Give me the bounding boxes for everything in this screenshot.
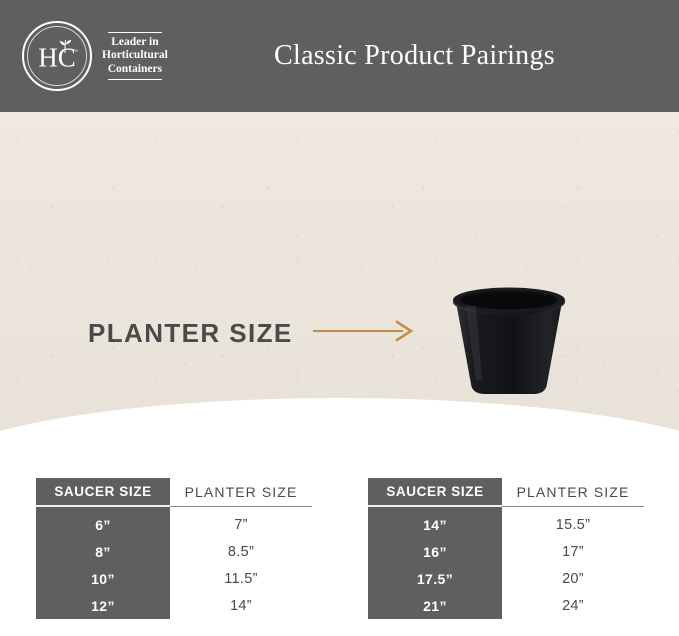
tagline-rule-top [108,32,162,33]
column-header-saucer-size: SAUCER SIZE [368,478,502,507]
planter-size-callout: PLANTER SIZE [88,318,415,349]
tagline-line-2: Horticultural [102,49,168,63]
table-cell-planter: 14” [170,592,312,619]
table-cell-planter: 24” [502,592,644,619]
table-small-sizes: SAUCER SIZE 6” 8” 10” 12” PLANTER SIZE 7… [36,478,312,619]
black-planter-pot-image [446,280,572,401]
tagline-line-1: Leader in [102,36,168,50]
table-cell-saucer: 17.5” [368,565,502,592]
planter-size-column-left: PLANTER SIZE 7” 8.5” 11.5” 14” [170,478,312,619]
table-cell-saucer: 14” [368,511,502,538]
planter-size-column-right: PLANTER SIZE 15.5” 17” 20” 24” [502,478,644,619]
hc-monogram: HC [24,45,90,72]
size-tables: SAUCER SIZE 6” 8” 10” 12” PLANTER SIZE 7… [0,478,679,636]
brand-logo: HC ™ Leader in Horticultural Containers [22,21,168,91]
table-cell-saucer: 16” [368,538,502,565]
arrow-right-icon-planter [311,320,415,347]
hc-circle-icon: HC ™ [22,21,92,91]
leaf-sprig-icon [55,38,75,59]
tagline-line-3: Containers [102,63,168,77]
column-header-planter-size: PLANTER SIZE [502,478,644,507]
table-cell-planter: 20” [502,565,644,592]
table-cell-planter: 15.5” [502,511,644,538]
table-cell-planter: 11.5” [170,565,312,592]
table-cell-saucer: 8” [36,538,170,565]
table-cell-saucer: 10” [36,565,170,592]
column-header-saucer-size: SAUCER SIZE [36,478,170,507]
trademark-symbol: ™ [73,49,78,55]
table-cell-planter: 8.5” [170,538,312,565]
column-header-planter-size: PLANTER SIZE [170,478,312,507]
saucer-size-column-right: SAUCER SIZE 14” 16” 17.5” 21” [368,478,502,619]
table-cell-saucer: 21” [368,592,502,619]
brand-tagline: Leader in Horticultural Containers [102,26,168,87]
table-large-sizes: SAUCER SIZE 14” 16” 17.5” 21” PLANTER SI… [368,478,644,619]
hero-panel: PLANTER SIZE SAUCER SIZE [0,112,679,438]
planter-size-label: PLANTER SIZE [88,318,293,349]
header-bar: HC ™ Leader in Horticultural Containers … [0,0,679,112]
tagline-rule-bottom [108,79,162,80]
table-cell-planter: 7” [170,511,312,538]
hero-texture [0,112,679,438]
table-cell-saucer: 6” [36,511,170,538]
saucer-size-column-left: SAUCER SIZE 6” 8” 10” 12” [36,478,170,619]
table-cell-planter: 17” [502,538,644,565]
table-cell-saucer: 12” [36,592,170,619]
